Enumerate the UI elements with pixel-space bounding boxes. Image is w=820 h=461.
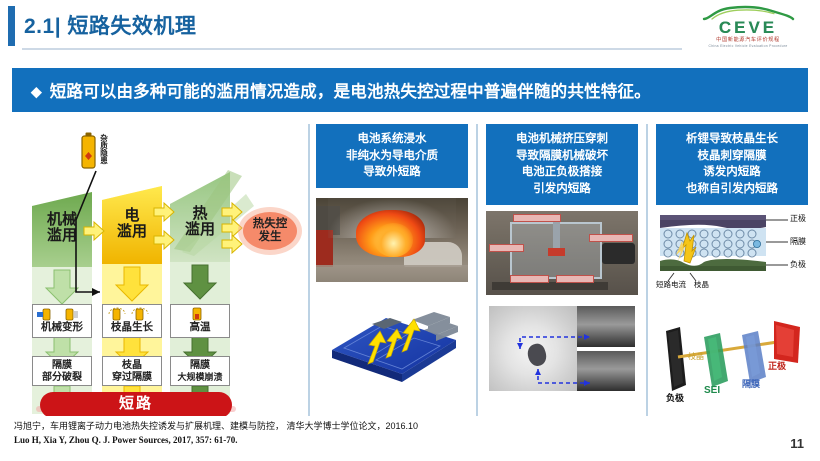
page-title: 2.1| 短路失效机理	[24, 10, 196, 40]
label-anode-3d: 负极	[666, 391, 684, 403]
column-1-header-line3: 导致外短路	[320, 164, 464, 181]
test-rig-annotation-5	[556, 275, 594, 283]
fire-photo-canvas	[316, 198, 468, 282]
label-cathode-3d: 正极	[768, 359, 786, 372]
abuse-electrical-line2: 滥用	[102, 224, 162, 240]
column-external-short-circuit: 电池系统浸水 非纯水为导电介质 导致外短路	[316, 124, 468, 416]
label-anode: 负极	[790, 259, 806, 270]
puncture-callout-lines	[486, 303, 638, 395]
mechanical-crush-test-rig-photo	[486, 211, 638, 295]
abuse-thermal-label: 热 滥用	[170, 206, 230, 238]
test-rig-annotation-2	[589, 234, 634, 242]
puncture-canvas	[486, 303, 638, 395]
puncture-sem-analysis-photo	[486, 303, 638, 395]
column-2-header-line3: 电池正负极搭接	[490, 164, 634, 181]
abuse-mechanical-line2: 滥用	[32, 228, 92, 244]
abuse-mechanical-line1: 机械	[32, 212, 92, 228]
flow-node-dendrite-through-separator-line1: 枝晶	[103, 361, 161, 372]
section-number: 2.1|	[24, 15, 61, 38]
logo-wordmark: CEVE	[690, 20, 806, 35]
column-dendrite-internal-short: 析锂导致枝晶生长 枝晶刺穿隔膜 诱发内短路 也称自引发内短路	[656, 124, 808, 416]
flow-node-dendrite-through-separator-line2: 穿过隔膜	[103, 373, 161, 384]
header-divider	[22, 48, 682, 50]
test-rig-annotation-1	[513, 214, 561, 222]
test-rig-base	[492, 282, 608, 290]
hot-cell-icon	[171, 306, 229, 322]
flow-node-separator-partial-rupture-line2: 部分破裂	[33, 373, 91, 384]
impurity-source-label: 杂质隐患	[100, 134, 108, 176]
flow-node-separator-collapse-line2: 大规模崩溃	[171, 373, 229, 383]
flow-node-high-temperature-label: 高温	[171, 322, 229, 333]
flooded-bus-fire-photo	[316, 198, 468, 282]
flow-node-separator-partial-rupture-line1: 隔膜	[33, 361, 91, 372]
battery-icon	[82, 133, 95, 169]
label-cathode: 正极	[790, 213, 806, 224]
sei-dendrite-graphic: 枝晶	[656, 307, 808, 403]
battery-pack-canvas	[316, 290, 468, 382]
dendrite-cross-section-schematic: 正极 隔膜 负极 短路电流 枝晶	[656, 211, 808, 303]
column-1-header-line1: 电池系统浸水	[320, 131, 464, 148]
flow-node-mechanical-deformation-label: 机械变形	[33, 322, 91, 333]
banner-text-row: ◆ 短路可以由多种可能的滥用情况造成，是电池热失控过程中普遍伴随的共性特征。	[12, 78, 651, 102]
test-rig-camera	[602, 243, 635, 265]
page-number: 11	[790, 436, 804, 451]
flow-node-dendrite-growth: 枝晶生长	[102, 304, 162, 338]
flow-node-separator-partial-rupture: 隔膜 部分破裂	[32, 356, 92, 386]
column-2-header: 电池机械挤压穿刺 导致隔膜机械破坏 电池正负极搭接 引发内短路	[486, 124, 638, 205]
citation-line-1: 冯旭宁，车用锂离子动力电池热失控诱发与扩展机理、建模与防控， 清华大学博士学位论…	[14, 420, 418, 434]
battery-pack-graphic	[316, 290, 468, 382]
column-divider-0	[308, 124, 310, 416]
label-sei: SEI	[704, 385, 720, 396]
banner-text: 短路可以由多种可能的滥用情况造成，是电池热失控过程中普遍伴随的共性特征。	[50, 83, 651, 101]
test-rig-sample-cell	[548, 248, 565, 256]
test-rig-canvas	[486, 211, 638, 295]
flow-result-short-circuit: 短路	[40, 396, 232, 412]
column-1-header: 电池系统浸水 非纯水为导电介质 导致外短路	[316, 124, 468, 188]
abuse-electrical-label: 电 滥用	[102, 208, 162, 240]
column-divider-1	[476, 124, 478, 416]
diamond-bullet-icon: ◆	[31, 83, 43, 101]
section-title: 短路失效机理	[67, 15, 196, 38]
abuse-to-short-circuit-flowchart: 杂质隐患 机械 滥用 电 滥用 热 滥用 热失控 发生 机械变形	[14, 124, 304, 416]
flow-node-high-temperature: 高温	[170, 304, 230, 338]
citation: 冯旭宁，车用锂离子动力电池热失控诱发与扩展机理、建模与防控， 清华大学博士学位论…	[14, 420, 418, 447]
label-separator: 隔膜	[790, 236, 806, 247]
slide: 2.1| 短路失效机理 CEVE 中国新能源汽车评价规程 China Elect…	[0, 0, 820, 461]
battery-pack-3d-illustration	[316, 290, 468, 382]
thermal-runaway-line1: 热失控	[242, 218, 298, 231]
dendrite-cell-icon	[103, 306, 161, 322]
thermal-runaway-label: 热失控 发生	[242, 218, 298, 244]
fire-photo-floodwater	[316, 265, 468, 282]
flow-node-dendrite-through-separator: 枝晶 穿过隔膜	[102, 356, 162, 386]
column-2-header-line2: 导致隔膜机械破坏	[490, 148, 634, 165]
label-short-circuit-current: 短路电流	[656, 279, 686, 290]
abuse-thermal-line2: 滥用	[170, 222, 230, 238]
column-1-header-line2: 非纯水为导电介质	[320, 148, 464, 165]
abuse-electrical-line1: 电	[102, 208, 162, 224]
dendrite-canvas: 正极 隔膜 负极 短路电流 枝晶	[656, 211, 808, 303]
sei-canvas: 枝晶 正极 隔膜 SEI 负极	[656, 307, 808, 403]
fire-photo-flame-core	[374, 223, 414, 257]
column-3-header-line1: 析锂导致枝晶生长	[660, 131, 804, 148]
abuse-mechanical-label: 机械 滥用	[32, 212, 92, 244]
column-divider-2	[646, 124, 648, 416]
key-point-banner: ◆ 短路可以由多种可能的滥用情况造成，是电池热失控过程中普遍伴随的共性特征。	[12, 68, 808, 112]
test-rig-annotation-4	[510, 275, 548, 283]
column-mechanical-internal-short: 电池机械挤压穿刺 导致隔膜机械破坏 电池正负极搭接 引发内短路	[486, 124, 638, 416]
label-separator-3d: 隔膜	[742, 377, 760, 390]
citation-line-2: Luo H, Xia Y, Zhou Q. J. Power Sources, …	[14, 434, 418, 448]
column-3-header-line4: 也称自引发内短路	[660, 181, 804, 198]
flow-node-separator-collapse: 隔膜 大规模崩溃	[170, 356, 230, 386]
flow-node-dendrite-growth-label: 枝晶生长	[103, 322, 161, 333]
svg-text:枝晶: 枝晶	[688, 351, 704, 361]
crushed-cell-icon	[33, 306, 91, 322]
abuse-thermal-line1: 热	[170, 206, 230, 222]
flow-node-mechanical-deformation: 机械变形	[32, 304, 92, 338]
label-dendrite: 枝晶	[694, 279, 709, 290]
logo-english-name: China Electric Vehicle Evaluation Proced…	[690, 44, 806, 48]
sei-dendrite-3d-schematic: 枝晶 正极 隔膜 SEI 负极	[656, 307, 808, 403]
column-2-header-line1: 电池机械挤压穿刺	[490, 131, 634, 148]
column-3-header-line3: 诱发内短路	[660, 164, 804, 181]
ceve-logo: CEVE 中国新能源汽车评价规程 China Electric Vehicle …	[690, 4, 806, 48]
logo-chinese-name: 中国新能源汽车评价规程	[690, 36, 806, 43]
column-2-header-line4: 引发内短路	[490, 181, 634, 198]
flow-node-separator-collapse-line1: 隔膜	[171, 361, 229, 372]
column-3-header-line2: 枝晶刺穿隔膜	[660, 148, 804, 165]
thermal-runaway-line2: 发生	[242, 231, 298, 244]
header-accent-bar	[8, 6, 15, 46]
column-3-header: 析锂导致枝晶生长 枝晶刺穿隔膜 诱发内短路 也称自引发内短路	[656, 124, 808, 205]
test-rig-annotation-3	[489, 244, 524, 252]
